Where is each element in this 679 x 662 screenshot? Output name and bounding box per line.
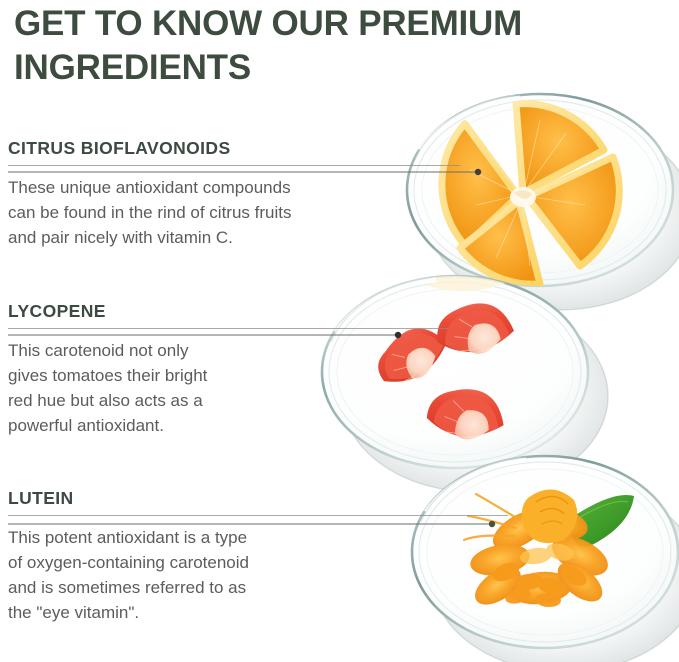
orange-slices [437, 104, 619, 285]
ingredient-heading-citrus-bioflavonoids: CITRUS BIOFLAVONOIDS [8, 138, 460, 159]
ingredient-section-lutein: LUTEIN This potent antioxidant is a type… [8, 488, 508, 625]
ingredient-body-lutein: This potent antioxidant is a type of oxy… [8, 525, 338, 625]
ingredient-body-citrus-bioflavonoids: These unique antioxidant compounds can b… [8, 175, 388, 250]
ingredient-divider-lycopene [8, 328, 448, 329]
ingredient-body-lycopene: This carotenoid not only gives tomatoes … [8, 338, 288, 438]
ingredient-divider-lutein [8, 515, 508, 516]
ingredient-section-lycopene: LYCOPENE This carotenoid not only gives … [8, 301, 448, 438]
ingredient-section-citrus-bioflavonoids: CITRUS BIOFLAVONOIDS These unique antiox… [8, 138, 460, 250]
ingredient-heading-lycopene: LYCOPENE [8, 301, 448, 322]
ingredient-infographic: GET TO KNOW OUR PREMIUM INGREDIENTS CITR… [0, 0, 679, 662]
ingredient-heading-lutein: LUTEIN [8, 488, 508, 509]
page-title: GET TO KNOW OUR PREMIUM INGREDIENTS [14, 2, 654, 90]
ingredient-divider-citrus-bioflavonoids [8, 165, 460, 166]
